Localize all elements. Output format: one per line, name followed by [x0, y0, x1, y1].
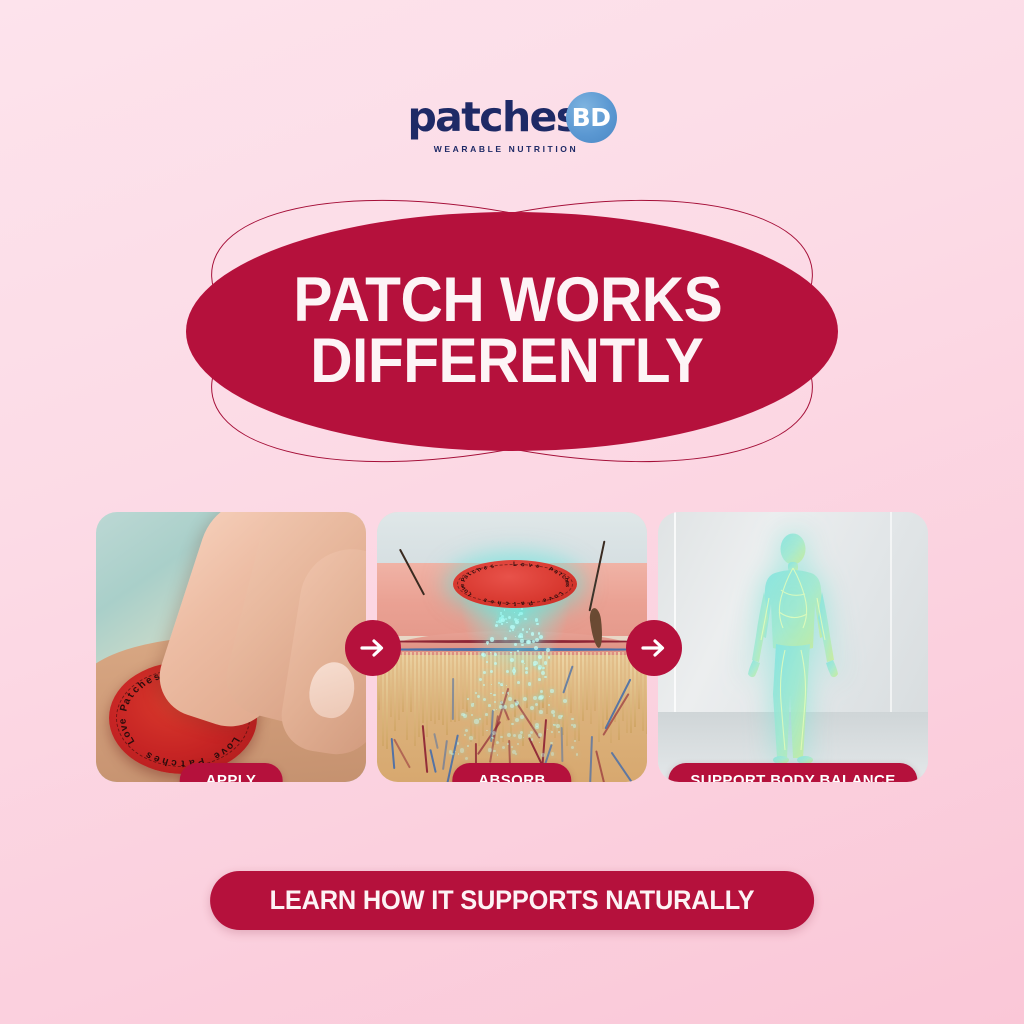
brand-logo: patches BD WEARABLE NUTRITION — [0, 92, 1024, 154]
logo-bd-badge: BD — [566, 92, 617, 143]
patch-circle: Love Patches Love Patches Love Patches — [453, 560, 577, 608]
logo-tagline: WEARABLE NUTRITION — [434, 144, 579, 154]
step-label-support: SUPPORT BODY BALANCE — [668, 763, 917, 782]
step-label-apply: APPLY — [180, 763, 283, 782]
arrow-right-icon — [626, 620, 682, 676]
logo-wordmark: patches — [407, 97, 578, 138]
headline-block: PATCH WORKS DIFFERENTLY — [183, 188, 841, 473]
patch-curved-text: Love Patches Love Patches Love Patches — [453, 560, 577, 608]
headline-line-1: PATCH WORKS — [294, 270, 723, 330]
glowing-body-figure — [733, 532, 853, 764]
step-card-absorb[interactable]: Love Patches Love Patches Love Patches A… — [377, 512, 647, 782]
step-image-apply: Love Patches Love Patches Love Patches — [96, 512, 366, 782]
headline-line-2: DIFFERENTLY — [310, 331, 703, 391]
step-card-apply[interactable]: Love Patches Love Patches Love Patches A… — [96, 512, 366, 782]
cta-label: LEARN HOW IT SUPPORTS NATURALLY — [270, 885, 755, 916]
cta-button[interactable]: LEARN HOW IT SUPPORTS NATURALLY — [210, 871, 814, 930]
step-label-absorb: ABSORB — [452, 763, 571, 782]
step-image-support — [658, 512, 928, 782]
step-image-absorb: Love Patches Love Patches Love Patches — [377, 512, 647, 782]
arrow-right-icon — [345, 620, 401, 676]
steps-row: Love Patches Love Patches Love Patches A… — [0, 512, 1024, 797]
step-card-support[interactable]: SUPPORT BODY BALANCE — [658, 512, 928, 782]
